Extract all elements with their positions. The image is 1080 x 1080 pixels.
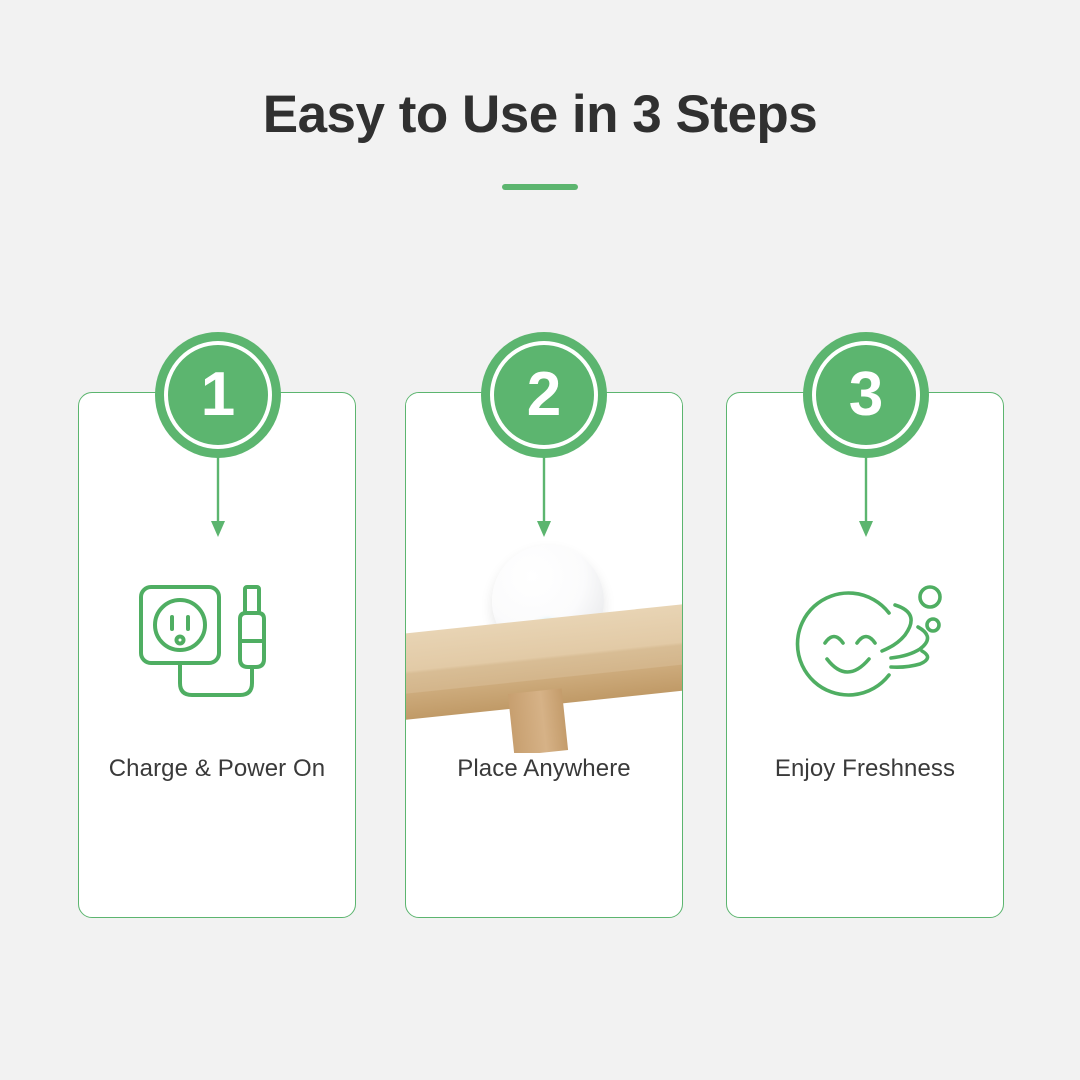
step-2-caption: Place Anywhere <box>406 755 682 783</box>
table-leg <box>508 688 568 753</box>
step-3-number: 3 <box>849 364 883 426</box>
smiling-face-fresh-air-icon <box>727 571 1003 707</box>
promo-infographic: Easy to Use in 3 Steps <box>0 0 1080 1080</box>
step-3-caption: Enjoy Freshness <box>727 755 1003 783</box>
step-3-number-badge: 3 <box>803 332 929 458</box>
step-1-arrow-icon <box>209 455 227 539</box>
step-2-number-badge: 2 <box>481 332 607 458</box>
step-2-arrow-icon <box>535 455 553 539</box>
page-title: Easy to Use in 3 Steps <box>0 84 1080 146</box>
step-3-arrow-icon <box>857 455 875 539</box>
title-accent-bar <box>502 184 578 190</box>
step-1-caption: Charge & Power On <box>79 755 355 783</box>
step-1-number: 1 <box>201 364 235 426</box>
header: Easy to Use in 3 Steps <box>0 84 1080 190</box>
step-1-number-badge: 1 <box>155 332 281 458</box>
power-outlet-usb-cable-icon <box>79 571 355 707</box>
step-2-number: 2 <box>527 364 561 426</box>
